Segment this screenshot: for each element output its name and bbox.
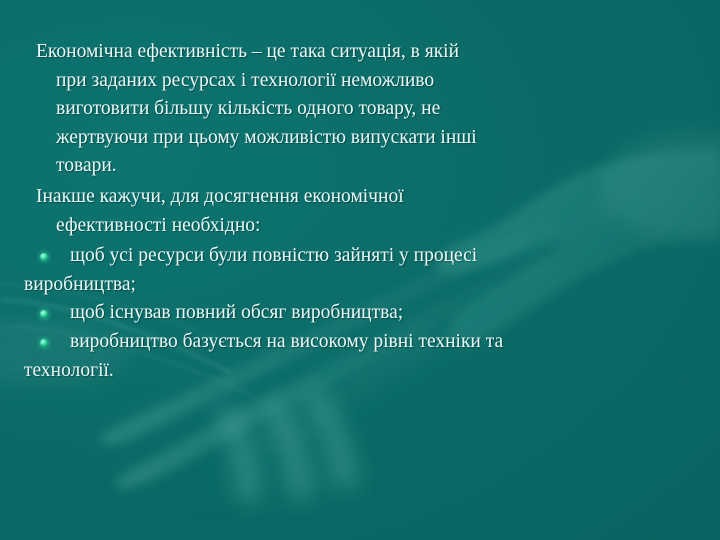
list-item-line-1: щоб усі ресурси були повністю зайняті у … — [70, 245, 477, 266]
paragraph-definition-line-4: жертвуючи при цьому можливістю випускати… — [36, 124, 702, 153]
list-item-line-2: технології. — [24, 357, 706, 386]
paragraph-definition-line-3: виготовити більшу кількість одного товар… — [36, 95, 702, 124]
list-item: виробництво базується на високому рівні … — [0, 328, 720, 385]
bullet-dot-icon — [40, 253, 48, 261]
paragraph-restatement-line-1: Інакше кажучи, для досягнення економічно… — [36, 186, 404, 207]
paragraph-definition-line-1: Економічна ефективність – це така ситуац… — [36, 41, 459, 62]
paragraph-restatement: Інакше кажучи, для досягнення економічно… — [0, 183, 720, 240]
paragraph-definition-line-5: товари. — [36, 152, 702, 181]
bullet-dot-icon — [40, 339, 48, 347]
requirements-list: щоб усі ресурси були повністю зайняті у … — [0, 242, 720, 385]
paragraph-definition-line-2: при заданих ресурсах і технології неможл… — [36, 67, 702, 96]
paragraph-restatement-line-2: ефективності необхідно: — [36, 212, 702, 241]
slide-body: Економічна ефективність – це така ситуац… — [0, 38, 720, 385]
list-item-line-1: щоб існував повний обсяг виробництва; — [70, 302, 403, 323]
list-item: щоб існував повний обсяг виробництва; — [0, 299, 720, 328]
presentation-slide: Економічна ефективність – це така ситуац… — [0, 0, 720, 540]
paragraph-definition: Економічна ефективність – це така ситуац… — [0, 38, 720, 181]
list-item-line-1: виробництво базується на високому рівні … — [70, 331, 503, 352]
list-item: щоб усі ресурси були повністю зайняті у … — [0, 242, 720, 299]
list-item-line-2: виробництва; — [24, 271, 706, 300]
bullet-dot-icon — [40, 310, 48, 318]
